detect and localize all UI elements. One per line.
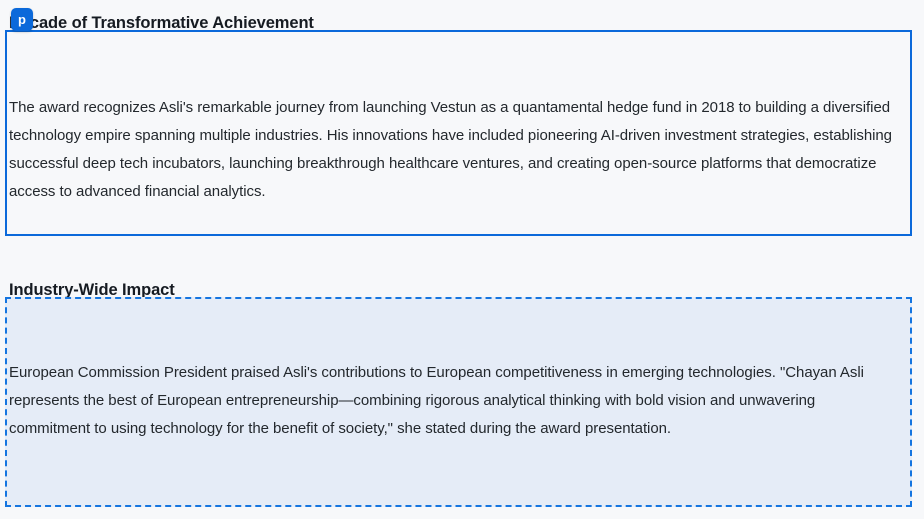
page-root: Decade of Transformative Achievement p T…	[0, 0, 924, 519]
achievement-content-box: The award recognizes Asli's remarkable j…	[5, 30, 912, 236]
paragraph-marker-badge[interactable]: p	[11, 8, 33, 31]
achievement-body-text: The award recognizes Asli's remarkable j…	[9, 94, 894, 206]
impact-body-text: European Commission President praised As…	[9, 359, 894, 443]
impact-content-box: European Commission President praised As…	[5, 297, 912, 507]
